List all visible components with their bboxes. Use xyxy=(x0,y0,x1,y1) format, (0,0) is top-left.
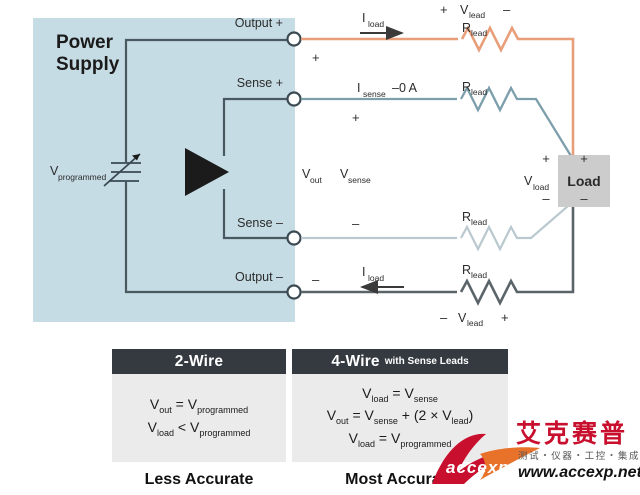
svg-text:R: R xyxy=(462,263,471,277)
terminal-sense-plus[interactable] xyxy=(288,93,301,106)
terminal-sense-minus[interactable] xyxy=(288,232,301,245)
load-minus-sign: – xyxy=(580,191,588,206)
i-sense-label: I sense –0 A xyxy=(357,81,418,99)
terminal-output-minus[interactable] xyxy=(288,286,301,299)
svg-text:programmed: programmed xyxy=(58,172,106,182)
svg-text:–: – xyxy=(440,310,448,325)
diagram-canvas: Power Supply V programmed Output + Se xyxy=(0,0,640,495)
polarity-output-minus: – xyxy=(312,272,320,287)
four-wire-eq-1: Vload = Vsense xyxy=(362,385,438,404)
svg-text:+: + xyxy=(542,151,550,166)
two-wire-header-main: 2-Wire xyxy=(175,353,223,371)
svg-text:lead: lead xyxy=(469,10,485,20)
svg-text:R: R xyxy=(462,80,471,94)
i-load-bottom-label: I load xyxy=(362,265,384,283)
panel-title-line2: Supply xyxy=(56,54,120,75)
four-wire-body: Vload = Vsense Vout = Vsense + (2 × Vlea… xyxy=(292,374,508,462)
svg-text:V: V xyxy=(460,3,469,17)
four-wire-header-note: with Sense Leads xyxy=(385,356,469,367)
wire-output-minus xyxy=(301,206,573,303)
svg-text:lead: lead xyxy=(471,217,487,227)
four-wire-eq-3: Vload = Vprogrammed xyxy=(349,430,452,449)
comparison-table: 2-Wire Vout = Vprogrammed Vload < Vprogr… xyxy=(112,349,508,495)
two-wire-eq-1: Vout = Vprogrammed xyxy=(150,396,248,415)
svg-text:lead: lead xyxy=(467,318,483,328)
svg-text:lead: lead xyxy=(471,28,487,38)
svg-text:load: load xyxy=(368,273,384,283)
v-out-label: V out xyxy=(302,167,322,185)
polarity-output-plus: + xyxy=(312,50,320,65)
terminal-output-plus[interactable] xyxy=(288,33,301,46)
load-label: Load xyxy=(567,173,600,189)
r-lead-output-minus-label: R lead xyxy=(462,263,487,280)
four-wire-header-main: 4-Wire xyxy=(331,353,379,371)
four-wire-eq-2: Vout = Vsense + (2 × Vlead) xyxy=(327,407,474,426)
svg-text:R: R xyxy=(462,21,471,35)
four-wire-footer: Most Accurate xyxy=(292,471,508,489)
svg-text:+: + xyxy=(501,310,509,325)
label-output-minus: Output – xyxy=(235,270,283,284)
svg-text:load: load xyxy=(368,19,384,29)
label-sense-minus: Sense – xyxy=(237,216,283,230)
load-plus-sign: + xyxy=(580,151,588,166)
svg-text:sense: sense xyxy=(348,175,371,185)
svg-text:V: V xyxy=(524,174,533,188)
svg-text:V: V xyxy=(458,311,467,325)
svg-text:out: out xyxy=(310,175,322,185)
svg-text:I: I xyxy=(357,81,360,95)
table-column-two-wire: 2-Wire Vout = Vprogrammed Vload < Vprogr… xyxy=(112,349,286,489)
two-wire-body: Vout = Vprogrammed Vload < Vprogrammed xyxy=(112,374,286,462)
wire-sense-minus xyxy=(301,206,568,249)
polarity-sense-plus: + xyxy=(352,110,360,125)
r-lead-output-plus-label: R lead xyxy=(462,21,487,38)
i-load-top-label: I load xyxy=(362,11,384,29)
v-lead-bottom-label: – V lead + xyxy=(440,310,509,328)
label-sense-plus: Sense + xyxy=(237,76,283,90)
polarity-sense-minus: – xyxy=(352,216,360,231)
svg-text:lead: lead xyxy=(471,87,487,97)
svg-text:+: + xyxy=(440,2,448,17)
table-column-four-wire: 4-Wire with Sense Leads Vload = Vsense V… xyxy=(292,349,508,489)
v-sense-label: V sense xyxy=(340,167,371,185)
r-lead-sense-minus-label: R lead xyxy=(462,210,487,227)
v-load-label: + V load – xyxy=(524,151,550,206)
svg-text:–0 A: –0 A xyxy=(392,81,418,95)
svg-text:lead: lead xyxy=(471,270,487,280)
svg-text:–: – xyxy=(542,191,550,206)
svg-text:–: – xyxy=(503,2,511,17)
two-wire-eq-2: Vload < Vprogrammed xyxy=(148,419,251,438)
wire-sense-plus xyxy=(301,88,571,156)
svg-text:I: I xyxy=(362,11,365,25)
two-wire-header: 2-Wire xyxy=(112,349,286,374)
two-wire-footer: Less Accurate xyxy=(112,471,286,489)
wire-output-plus xyxy=(301,28,573,156)
four-wire-header: 4-Wire with Sense Leads xyxy=(292,349,508,374)
r-lead-sense-plus-label: R lead xyxy=(462,80,487,97)
svg-text:I: I xyxy=(362,265,365,279)
label-output-plus: Output + xyxy=(235,16,283,30)
v-lead-top-label: + V lead – xyxy=(440,2,511,20)
panel-title-line1: Power xyxy=(56,32,114,53)
svg-text:sense: sense xyxy=(363,89,386,99)
svg-text:R: R xyxy=(462,210,471,224)
